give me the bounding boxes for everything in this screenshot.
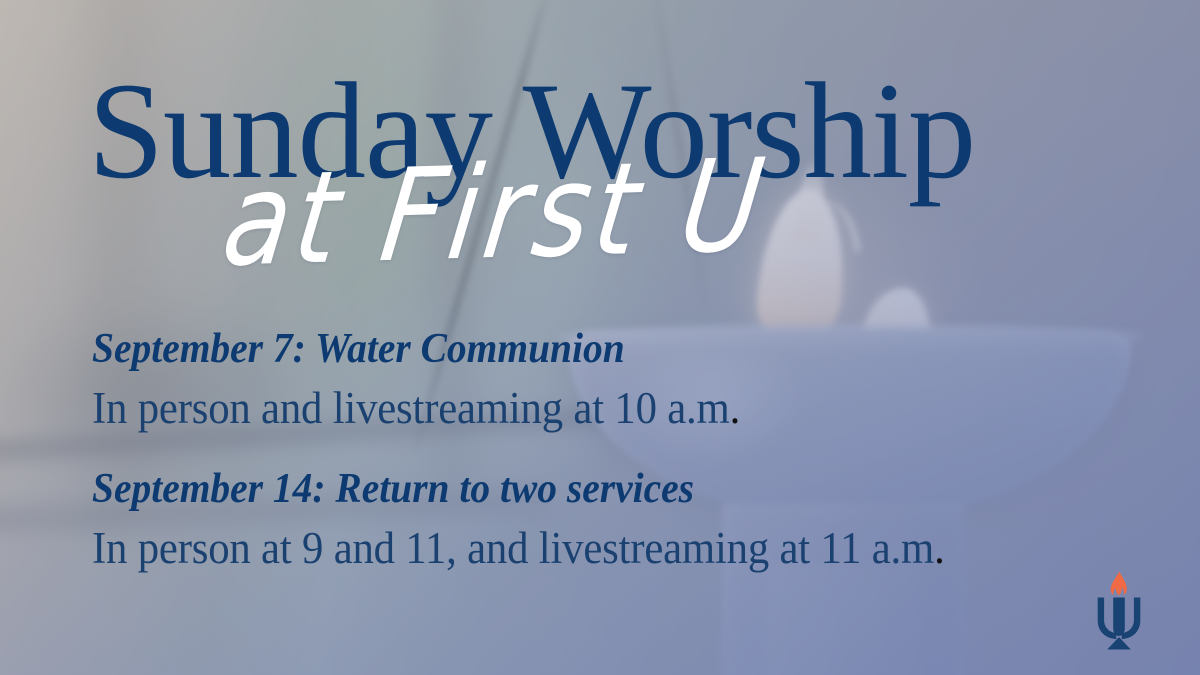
chalice-left-arm xyxy=(1093,598,1117,640)
chalice-center-stem xyxy=(1113,598,1125,637)
chalice-right-arm xyxy=(1122,598,1146,640)
script-subtitle: at First U xyxy=(217,143,775,286)
event-detail-text: In person at 9 and 11, and livestreaming… xyxy=(92,523,934,573)
event-block-2: September 14: Return to two services In … xyxy=(92,466,1102,573)
event-detail-period: . xyxy=(730,383,741,433)
event-heading: September 14: Return to two services xyxy=(92,466,1041,513)
event-detail-period: . xyxy=(934,523,945,573)
event-heading: September 7: Water Communion xyxy=(92,326,1041,373)
uu-flaming-chalice-logo xyxy=(1082,567,1156,653)
event-block-1: September 7: Water Communion In person a… xyxy=(92,326,1102,433)
worship-announcement-poster: Sunday Worship at First U September 7: W… xyxy=(0,0,1200,675)
event-detail-text: In person and livestreaming at 10 a.m xyxy=(92,383,730,433)
chalice-base xyxy=(1107,637,1131,650)
event-detail: In person at 9 and 11, and livestreaming… xyxy=(92,523,1052,573)
chalice-flame-icon xyxy=(1111,572,1127,596)
event-detail: In person and livestreaming at 10 a.m. xyxy=(92,383,1052,433)
